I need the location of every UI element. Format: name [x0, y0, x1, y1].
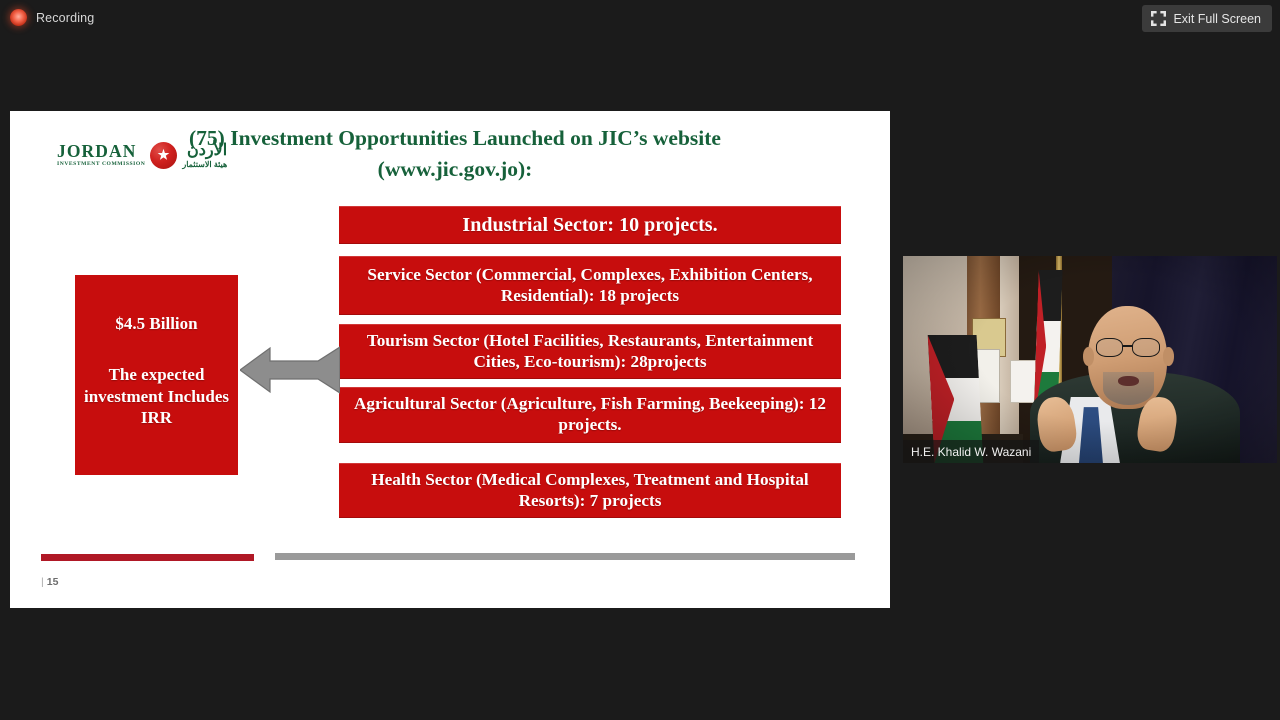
- slide-title: (75) Investment Opportunities Launched o…: [130, 123, 780, 184]
- sector-list: Industrial Sector: 10 projects. Service …: [339, 206, 841, 518]
- sector-label: Health Sector (Medical Complexes, Treatm…: [349, 470, 831, 511]
- sector-label: Service Sector (Commercial, Complexes, E…: [349, 265, 831, 306]
- participant-video-tile[interactable]: H.E. Khalid W. Wazani: [903, 256, 1277, 463]
- video-scene: [903, 256, 1277, 463]
- top-toolbar: Recording Exit Full Screen: [0, 0, 1280, 38]
- logo-name-en: JORDAN: [57, 143, 137, 161]
- sector-label: Industrial Sector: 10 projects.: [349, 213, 831, 237]
- zoom-fullscreen-presentation: Recording Exit Full Screen JORDAN: [0, 0, 1280, 720]
- presentation-slide: JORDAN INVESTMENT COMMISSION الأردن هيئة…: [10, 111, 890, 608]
- sector-label: Tourism Sector (Hotel Facilities, Restau…: [349, 331, 831, 372]
- page-number-tick: |: [41, 576, 44, 588]
- sector-box-industrial: Industrial Sector: 10 projects.: [339, 206, 841, 244]
- record-dot-icon: [10, 9, 27, 26]
- exit-fullscreen-icon: [1151, 11, 1166, 26]
- slide-page-number: |15: [41, 576, 58, 588]
- investment-amount: $4.5 Billion: [115, 313, 197, 334]
- video-vignette: [903, 256, 1277, 463]
- exit-full-screen-label: Exit Full Screen: [1173, 12, 1261, 26]
- footer-gray-bar: [275, 553, 855, 560]
- footer-red-bar: [41, 554, 254, 561]
- sector-box-agricultural: Agricultural Sector (Agriculture, Fish F…: [339, 387, 841, 443]
- expected-investment-callout: $4.5 Billion The expected investment Inc…: [75, 275, 238, 475]
- participant-name-label: H.E. Khalid W. Wazani: [903, 440, 1039, 463]
- sector-label: Agricultural Sector (Agriculture, Fish F…: [349, 394, 831, 435]
- exit-full-screen-button[interactable]: Exit Full Screen: [1142, 5, 1272, 32]
- left-arrow-icon: [240, 345, 340, 395]
- sector-box-service: Service Sector (Commercial, Complexes, E…: [339, 256, 841, 315]
- recording-indicator: Recording: [10, 9, 94, 26]
- investment-description: The expected investment Includes IRR: [75, 364, 238, 428]
- page-number-value: 15: [47, 576, 59, 588]
- sector-box-health: Health Sector (Medical Complexes, Treatm…: [339, 463, 841, 518]
- recording-label: Recording: [36, 11, 94, 25]
- sector-box-tourism: Tourism Sector (Hotel Facilities, Restau…: [339, 324, 841, 379]
